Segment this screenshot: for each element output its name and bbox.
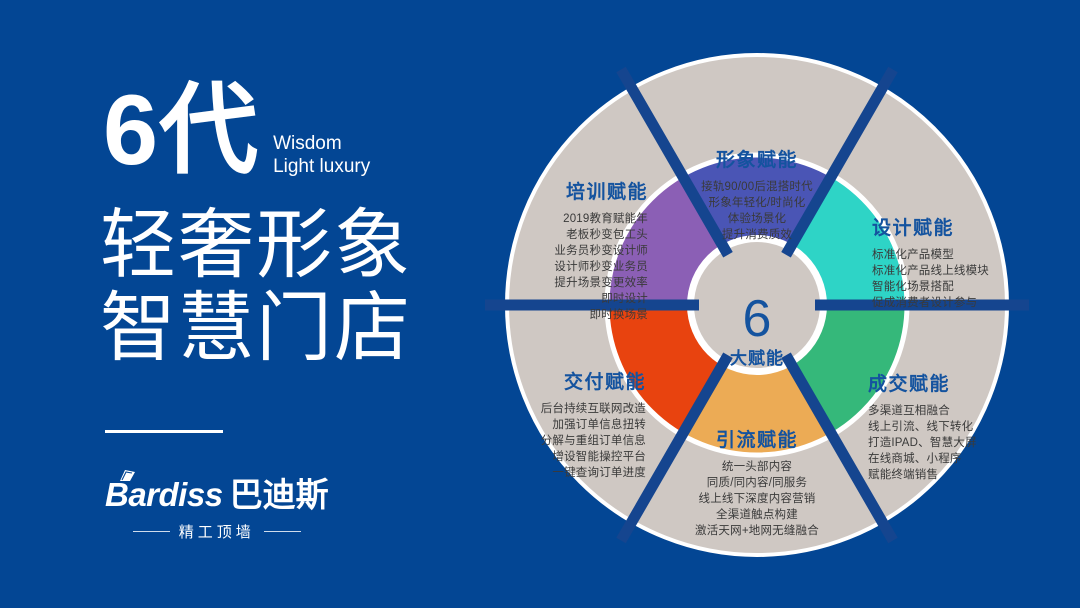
segment-title-5: 培训赋能: [566, 180, 648, 203]
segment-1-line-3: 促成消费者设计参与: [872, 295, 977, 309]
segment-3-line-1: 同质/同内容/同服务: [707, 475, 808, 489]
page-title: 6代: [103, 82, 259, 178]
segment-4-line-3: 增设智能操控平台: [552, 449, 646, 463]
logo-tagline-text: 精工顶墙: [179, 521, 255, 542]
logo-tagline: 精工顶墙: [105, 521, 329, 542]
divider-rule: [105, 430, 223, 433]
logo-wordmark: Bardiss 巴迪斯: [105, 478, 329, 512]
segment-0-line-0: 接轨90/00后混搭时代: [701, 179, 813, 193]
segment-title-1: 设计赋能: [872, 216, 954, 239]
segment-2-line-4: 赋能终端销售: [868, 467, 938, 481]
wheel-svg: 6 大赋能 形象赋能接轨90/00后混搭时代形象年轻化/时尚化体验场景化提升消费…: [500, 48, 1014, 562]
segment-1-line-2: 智能化场景搭配: [872, 279, 954, 293]
segment-2-line-3: 在线商城、小程序: [868, 451, 962, 465]
segment-4-line-0: 后台持续互联网改造: [541, 401, 647, 415]
segment-1-line-1: 标准化产品线上线模块: [872, 263, 989, 277]
center-number: 6: [743, 290, 772, 348]
tagline-dash-right: [264, 531, 301, 532]
headline-row: 6代 Wisdom Light luxury: [103, 82, 370, 178]
segment-0-line-2: 体验场景化: [728, 211, 787, 225]
segment-3-line-0: 统一头部内容: [722, 459, 792, 473]
segment-2-line-0: 多渠道互相融合: [868, 403, 950, 417]
segment-5-line-1: 老板秒变包工头: [566, 227, 648, 241]
segment-2-line-1: 线上引流、线下转化: [868, 419, 974, 433]
segment-3-line-3: 全渠道触点构建: [716, 507, 798, 521]
segment-0-line-3: 提升消费质效: [722, 227, 792, 241]
logo-latin-text: Bardiss: [105, 478, 223, 512]
six-empowerment-wheel: 6 大赋能 形象赋能接轨90/00后混搭时代形象年轻化/时尚化体验场景化提升消费…: [500, 48, 1014, 562]
headline-line-3: 智慧门店: [100, 290, 412, 368]
segment-5-line-6: 即时换场景: [590, 307, 649, 321]
logo-chinese-text: 巴迪斯: [230, 478, 329, 512]
tagline-dash-left: [133, 531, 170, 532]
segment-title-4: 交付赋能: [564, 370, 646, 393]
segment-3-line-4: 激活天网+地网无缝融合: [695, 523, 819, 537]
segment-title-3: 引流赋能: [716, 428, 798, 451]
segment-5-line-0: 2019教育赋能年: [563, 211, 648, 225]
hero-panel: 6代 Wisdom Light luxury 轻奢形象 智慧门店 Bardiss…: [0, 0, 500, 608]
segment-5-line-5: 即时设计: [601, 292, 648, 305]
segment-5-line-3: 设计师秒变业务员: [554, 259, 648, 273]
brand-logo: Bardiss 巴迪斯 精工顶墙: [105, 478, 329, 542]
segment-4-line-4: 一键查询订单进度: [552, 465, 646, 479]
headline-line-2: 轻奢形象: [100, 207, 412, 285]
segment-4-line-1: 加强订单信息扭转: [552, 417, 646, 431]
segment-5-line-2: 业务员秒变设计师: [554, 243, 648, 257]
segment-title-0: 形象赋能: [716, 148, 798, 171]
logo-swoosh-icon: [119, 469, 136, 482]
segment-0-line-1: 形象年轻化/时尚化: [709, 195, 806, 209]
english-subtitle: Wisdom Light luxury: [273, 132, 370, 178]
poster-canvas: 6代 Wisdom Light luxury 轻奢形象 智慧门店 Bardiss…: [0, 0, 1080, 608]
segment-title-2: 成交赋能: [868, 372, 950, 395]
segment-5-line-4: 提升场景变更效率: [554, 275, 648, 289]
center-label: 大赋能: [730, 348, 784, 368]
segment-2-line-2: 打造IPAD、智慧大屏: [868, 435, 977, 449]
segment-3-line-2: 线上线下深度内容营销: [699, 491, 816, 505]
segment-4-line-2: 分解与重组订单信息: [541, 433, 646, 447]
english-subtitle-line1: Wisdom: [273, 132, 370, 155]
english-subtitle-line2: Light luxury: [273, 155, 370, 178]
segment-1-line-0: 标准化产品模型: [872, 247, 954, 261]
